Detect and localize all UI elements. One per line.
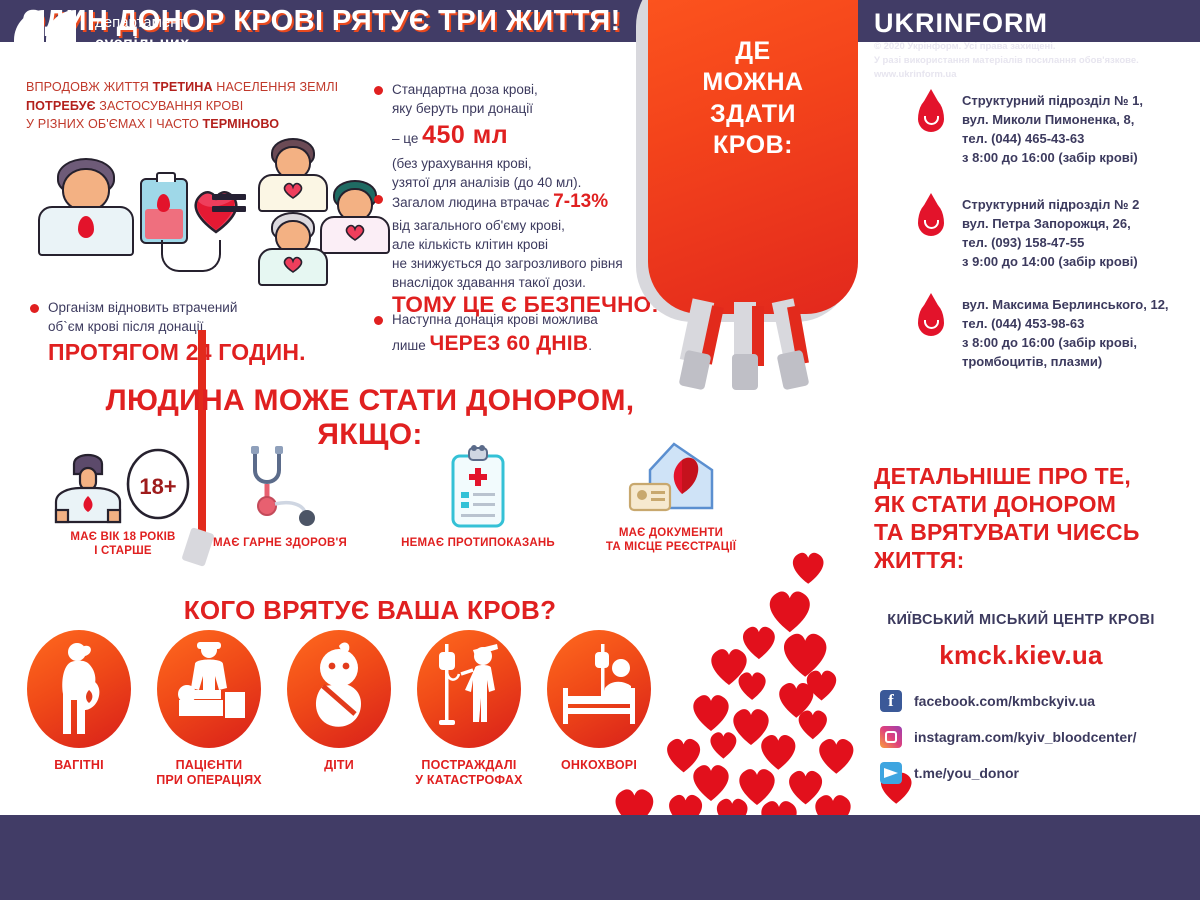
- intro-line3-a: У РІЗНИХ ОБ'ЄМАХ І ЧАСТО: [26, 117, 202, 131]
- cta-heading-line-4: ЖИТТЯ:: [874, 546, 1194, 574]
- location-3-line-4: тромбоцитів, плазми): [962, 353, 1200, 372]
- criterion-documents: МАЄ ДОКУМЕНТИ ТА МІСЦЕ РЕЄСТРАЦІЇ: [556, 440, 786, 555]
- age-badge-text: 18+: [139, 474, 176, 499]
- intro-line2-a: ПОТРЕБУЄ: [26, 99, 96, 113]
- restore-line-1: Організм відновить втрачений: [48, 298, 360, 317]
- surgery-patient-icon: [157, 630, 261, 748]
- blood-center-name: КИЇВСЬКИЙ МІСЬКИЙ ЦЕНТР КРОВІ: [846, 612, 1196, 628]
- dose-line-4: (без урахування крові,: [392, 154, 654, 173]
- next-interval: ЧЕРЕЗ 60 ДНІВ: [430, 332, 589, 355]
- hearts-cascade: [590, 540, 920, 860]
- clipboard-medical-icon: [443, 444, 513, 530]
- footer-band: [0, 815, 1200, 900]
- save-section-heading: КОГО ВРЯТУЄ ВАША КРОВ?: [60, 596, 680, 625]
- location-3-line-2: тел. (044) 453-98-63: [962, 315, 1200, 334]
- intro-line1-a: ВПРОДОВЖ ЖИТТЯ: [26, 80, 153, 94]
- department-line-2: суспільних: [95, 33, 195, 55]
- location-2: Структурний підрозділ № 2 вул. Петра Зап…: [918, 196, 1198, 271]
- pregnant-woman-icon: [27, 630, 131, 748]
- location-1: Структурний підрозділ № 1, вул. Миколи П…: [918, 92, 1198, 167]
- intro-line3-b: ТЕРМІНОВО: [202, 117, 279, 131]
- blood-bag-graphic: ДЕ МОЖНА ЗДАТИ КРОВ:: [626, 0, 896, 400]
- house-id-card-icon: [624, 440, 718, 520]
- location-1-line-4: з 8:00 до 16:00 (забір крові): [962, 149, 1198, 168]
- social-telegram[interactable]: t.me/you_donor: [880, 762, 1019, 784]
- cta-heading-line-1: ДЕТАЛЬНІШЕ ПРО ТЕ,: [874, 462, 1194, 490]
- beneficiary-children-circle: [287, 630, 391, 748]
- cta-heading-line-2: ЯК СТАТИ ДОНОРОМ: [874, 490, 1194, 518]
- blood-drop-icon: [918, 202, 944, 236]
- recipient-person-3-icon: [258, 212, 328, 282]
- beneficiary-children-caption-1: ДІТИ: [276, 758, 402, 773]
- beneficiary-accident: ПОСТРАЖДАЛІ У КАТАСТРОФАХ: [406, 630, 532, 789]
- bag-label-line-1: ДЕ: [648, 36, 858, 67]
- beneficiary-pregnant: ВАГІТНІ: [16, 630, 142, 773]
- bag-label-line-2: МОЖНА: [648, 67, 858, 98]
- infographic-root: ОДИН ДОНОР КРОВІ РЯТУЄ ТРИ ЖИТТЯ! ВПРОДО…: [0, 0, 1200, 900]
- bullet-dot-icon: [30, 304, 39, 313]
- recipient-person-1-icon: [258, 138, 328, 208]
- intro-line1-c: НАСЕЛЕННЯ ЗЕМЛІ: [213, 80, 339, 94]
- telegram-icon[interactable]: [880, 762, 902, 784]
- beneficiary-surgery: ПАЦІЄНТИ ПРИ ОПЕРАЦІЯХ: [146, 630, 272, 789]
- beneficiary-pregnant-circle: [27, 630, 131, 748]
- bag-clip-2: [732, 354, 758, 390]
- beneficiary-accident-caption-2: У КАТАСТРОФАХ: [406, 773, 532, 788]
- next-suffix: .: [588, 338, 592, 353]
- location-1-line-2: вул. Миколи Пимоненка, 8,: [962, 111, 1198, 130]
- cta-heading: ДЕТАЛЬНІШЕ ПРО ТЕ, ЯК СТАТИ ДОНОРОМ ТА В…: [874, 462, 1194, 574]
- location-2-line-4: з 9:00 до 14:00 (забір крові): [962, 253, 1198, 272]
- loss-percent: 7-13%: [553, 191, 608, 212]
- location-1-line-3: тел. (044) 465-43-63: [962, 130, 1198, 149]
- department-logo-icon: [14, 10, 80, 76]
- department-name: департамент суспільних комунікацій: [95, 13, 195, 76]
- equals-sign-icon: [212, 188, 246, 218]
- bag-label-line-3: ЗДАТИ: [648, 99, 858, 130]
- criterion-health: МАЄ ГАРНЕ ЗДОРОВ'Я: [180, 444, 380, 550]
- location-3-line-1: вул. Максима Берлинського, 12,: [962, 296, 1200, 315]
- blood-drop-icon: [918, 302, 944, 336]
- dose-line-2: яку беруть при донації: [392, 99, 654, 118]
- blood-drop-icon: [918, 98, 944, 132]
- location-1-line-1: Структурний підрозділ № 1,: [962, 92, 1198, 111]
- copyright-line-3: www.ukrinform.ua: [874, 68, 1184, 82]
- beneficiary-accident-caption-1: ПОСТРАЖДАЛІ: [406, 758, 532, 773]
- next-prefix: лише: [392, 338, 430, 353]
- dose-line-1: Стандартна доза крові,: [392, 80, 654, 99]
- beneficiary-pregnant-caption-1: ВАГІТНІ: [16, 758, 142, 773]
- copyright-text: © 2020 Укрінформ. Усі права захищені. У …: [874, 40, 1184, 81]
- baby-icon: [287, 630, 391, 748]
- website-link[interactable]: kmck.kiev.ua: [846, 640, 1196, 671]
- copyright-line-2: У разі використання матеріалів посилання…: [874, 54, 1184, 68]
- facebook-label[interactable]: facebook.com/kmbckyiv.ua: [914, 690, 1095, 712]
- beneficiary-accident-circle: [417, 630, 521, 748]
- criterion-documents-caption-1: МАЄ ДОКУМЕНТИ: [556, 526, 786, 540]
- intro-line2-b: ЗАСТОСУВАННЯ КРОВІ: [96, 99, 244, 113]
- loss-line-1: Загалом людина втрачає: [392, 195, 553, 210]
- beneficiary-surgery-caption-1: ПАЦІЄНТИ: [146, 758, 272, 773]
- social-facebook[interactable]: f facebook.com/kmbckyiv.ua: [880, 690, 1095, 712]
- location-2-line-1: Структурний підрозділ № 2: [962, 196, 1198, 215]
- donor-equals-three-illustration: [30, 136, 370, 286]
- donor-heading-line-1: ЛЮДИНА МОЖЕ СТАТИ ДОНОРОМ,: [60, 384, 680, 418]
- instagram-icon[interactable]: [880, 726, 902, 748]
- social-instagram[interactable]: instagram.com/kyiv_bloodcenter/: [880, 726, 1137, 748]
- dose-dash: – це: [392, 131, 422, 146]
- telegram-label[interactable]: t.me/you_donor: [914, 762, 1019, 784]
- beneficiary-children: ДІТИ: [276, 630, 402, 773]
- cta-heading-line-3: ТА ВРЯТУВАТИ ЧИЄСЬ: [874, 518, 1194, 546]
- location-3: вул. Максима Берлинського, 12, тел. (044…: [918, 296, 1200, 371]
- copyright-line-1: © 2020 Укрінформ. Усі права захищені.: [874, 40, 1184, 54]
- woman-18plus-icon: 18+: [48, 444, 198, 524]
- bag-label-line-4: КРОВ:: [648, 130, 858, 161]
- intro-line1-b: ТРЕТИНА: [153, 80, 213, 94]
- department-line-1: департамент: [95, 13, 195, 33]
- accident-victim-icon: [417, 630, 521, 748]
- dose-amount: 450 мл: [422, 121, 508, 149]
- location-3-line-3: з 8:00 до 16:00 (забір крові,: [962, 334, 1200, 353]
- intro-paragraph: ВПРОДОВЖ ЖИТТЯ ТРЕТИНА НАСЕЛЕННЯ ЗЕМЛІ П…: [26, 78, 366, 134]
- bullet-dot-icon: [374, 195, 383, 204]
- location-2-line-3: тел. (093) 158-47-55: [962, 234, 1198, 253]
- criterion-health-caption-1: МАЄ ГАРНЕ ЗДОРОВ'Я: [180, 536, 380, 550]
- donor-person-icon: [38, 158, 134, 254]
- instagram-label[interactable]: instagram.com/kyiv_bloodcenter/: [914, 726, 1137, 748]
- department-line-3: комунікацій: [95, 55, 195, 77]
- fact-dose: Стандартна доза крові, яку беруть при до…: [374, 80, 654, 192]
- fact-restore: Організм відновить втрачений об`єм крові…: [30, 298, 360, 369]
- blood-tube-icon: [161, 240, 221, 272]
- bullet-dot-icon: [374, 86, 383, 95]
- mini-blood-bag-icon: [140, 178, 188, 244]
- location-2-line-2: вул. Петра Запорожця, 26,: [962, 215, 1198, 234]
- blood-bag-label: ДЕ МОЖНА ЗДАТИ КРОВ:: [648, 36, 858, 161]
- beneficiary-surgery-caption-2: ПРИ ОПЕРАЦІЯХ: [146, 773, 272, 788]
- ukrinform-logo: UKRINFORM: [874, 10, 1184, 37]
- agency-block: UKRINFORM © 2020 Укрінформ. Усі права за…: [874, 10, 1184, 81]
- bullet-dot-icon: [374, 316, 383, 325]
- stethoscope-icon: [235, 444, 325, 530]
- beneficiary-surgery-circle: [157, 630, 261, 748]
- facebook-icon[interactable]: f: [880, 690, 902, 712]
